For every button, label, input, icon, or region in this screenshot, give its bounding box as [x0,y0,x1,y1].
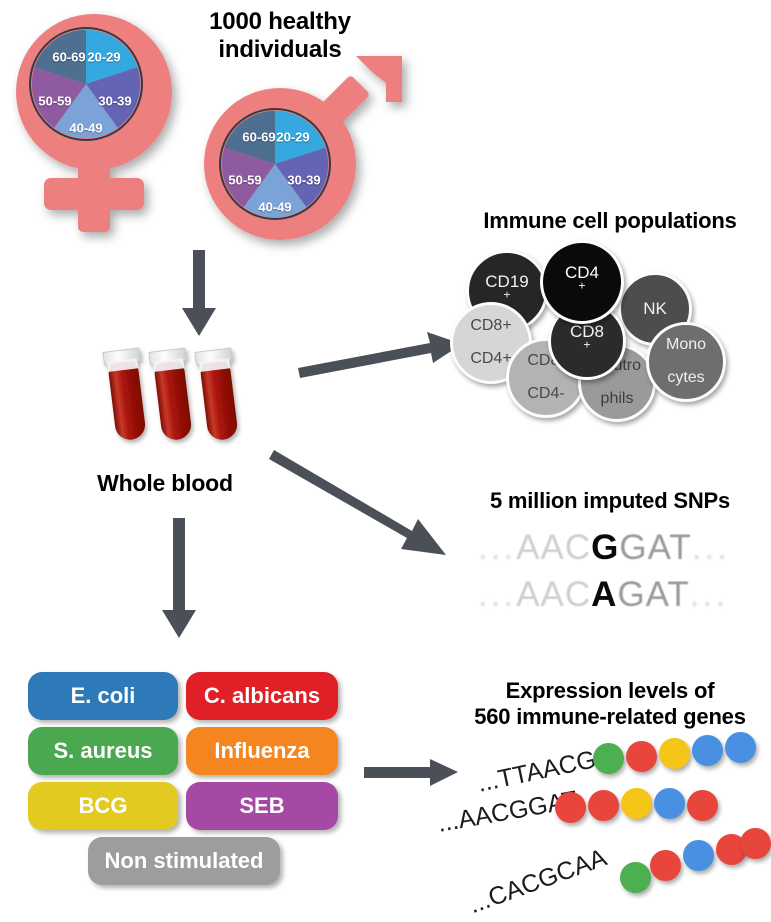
snp-row1-prefix: ... [478,528,516,567]
expression-strand-3-bead-5 [740,828,771,859]
blood-tubes-illustration [104,340,254,460]
snp-sequence-row-1: ...AACGGAT... [478,528,730,568]
page-title-line1: 1000 healthy [175,8,385,36]
arrow-blood-to-stimuli [158,518,200,640]
female-pie-label-30-39: 30-39 [98,94,131,109]
female-pie-label-60-69: 60-69 [52,50,85,65]
male-pie-label-50-59: 50-59 [228,173,261,188]
expression-strand-1-bead-3 [659,738,690,769]
arrow-blood-to-snps [272,448,448,558]
arrow-cohort-to-blood [178,250,220,338]
male-pie-label-30-39: 30-39 [287,173,320,188]
expression-strand-2-bead-1 [555,792,586,823]
stimulus-label-bcg: BCG [79,793,128,819]
expression-section-title: Expression levels of 560 immune-related … [450,678,770,730]
expression-strand-3-sequence: ...CACGCAA [465,843,611,920]
stimuli-panel: E. coli C. albicans S. aureus Influenza … [28,672,338,892]
stimulus-label-seb: SEB [239,793,284,819]
expression-strand-2-bead-2 [588,790,619,821]
immune-cell-neutrophils-line2: phils [593,391,641,408]
immune-cell-monocytes-line2: cytes [666,370,706,387]
expression-strand-3-bead-1 [620,862,651,893]
female-pie-label-20-29: 20-29 [87,50,120,65]
immune-cell-cd8pos-cd4pos-line1: CD8+ [470,318,511,335]
stimulus-chip-bcg[interactable]: BCG [28,782,178,830]
expression-strand-1-bead-5 [725,732,756,763]
male-pie-label-60-69: 60-69 [242,130,275,145]
snp-sequence-illustration: ...AACGGAT... ...AACAGAT... [478,528,758,620]
expression-strand-1-bead-2 [626,741,657,772]
male-pie-label-20-29: 20-29 [276,130,309,145]
stimulus-chip-e-coli[interactable]: E. coli [28,672,178,720]
expression-strand-1-bead-1 [593,743,624,774]
expression-strand-3-bead-2 [650,850,681,881]
expression-title-line2: 560 immune-related genes [450,704,770,730]
whole-blood-label: Whole blood [75,470,255,497]
snp-row2-left: AAC [516,575,591,614]
immune-cell-cd8pos-cd4pos-line2: CD4+ [470,351,511,368]
immune-cell-monocytes: Mono cytes [646,322,726,402]
male-pie-label-40-49: 40-49 [258,200,291,215]
snp-row1-suffix: ... [692,528,730,567]
stimulus-chip-c-albicans[interactable]: C. albicans [186,672,338,720]
expression-strand-3-bead-3 [683,840,714,871]
immune-cell-cd8-sup: + [583,337,590,351]
snp-section-title: 5 million imputed SNPs [450,488,770,514]
stimulus-label-e-coli: E. coli [71,683,136,709]
snp-row1-right: GAT [619,528,691,567]
snp-row1-variant: G [591,528,619,567]
immune-cell-cd19-sup: + [503,287,510,301]
expression-title-line1: Expression levels of [450,678,770,704]
snp-sequence-row-2: ...AACAGAT... [478,575,728,615]
stimulus-chip-seb[interactable]: SEB [186,782,338,830]
expression-strand-2-bead-4 [654,788,685,819]
stimulus-label-s-aureus: S. aureus [53,738,152,764]
gene-expression-illustration: ...TTAACGG ...AACGGAT ...CACGCAA [440,740,771,920]
arrow-blood-to-immune [296,330,464,378]
immune-cell-monocytes-line1: Mono [666,337,706,354]
immune-cell-cd4-sup: + [578,278,585,292]
snp-row2-prefix: ... [478,575,516,614]
immune-section-title: Immune cell populations [450,208,770,234]
snp-row2-variant: A [591,575,617,614]
snp-row2-right: GAT [617,575,689,614]
expression-strand-2-bead-5 [687,790,718,821]
expression-strand-2-bead-3 [621,788,652,819]
expression-strand-3: ...CACGCAA [440,820,771,890]
immune-cell-cd8neg-cd4neg-line2: CD4- [527,386,564,403]
immune-cell-population-cluster: CD19+ CD4+ NK CD8+ CD8+ CD4+ CD8- CD4- N… [450,240,770,420]
snp-row2-suffix: ... [690,575,728,614]
female-pie-label-50-59: 50-59 [38,94,71,109]
stimulus-label-influenza: Influenza [214,738,309,764]
immune-cell-cd4: CD4+ [540,240,624,324]
expression-strand-1-bead-4 [692,735,723,766]
stimulus-label-c-albicans: C. albicans [204,683,320,709]
stimulus-chip-non-stimulated[interactable]: Non stimulated [88,837,280,885]
stimulus-chip-s-aureus[interactable]: S. aureus [28,727,178,775]
snp-row1-left: AAC [516,528,591,567]
female-pie-label-40-49: 40-49 [69,121,102,136]
immune-cell-nk-label: NK [643,300,667,318]
stimulus-label-non-stimulated: Non stimulated [105,848,264,874]
stimulus-chip-influenza[interactable]: Influenza [186,727,338,775]
